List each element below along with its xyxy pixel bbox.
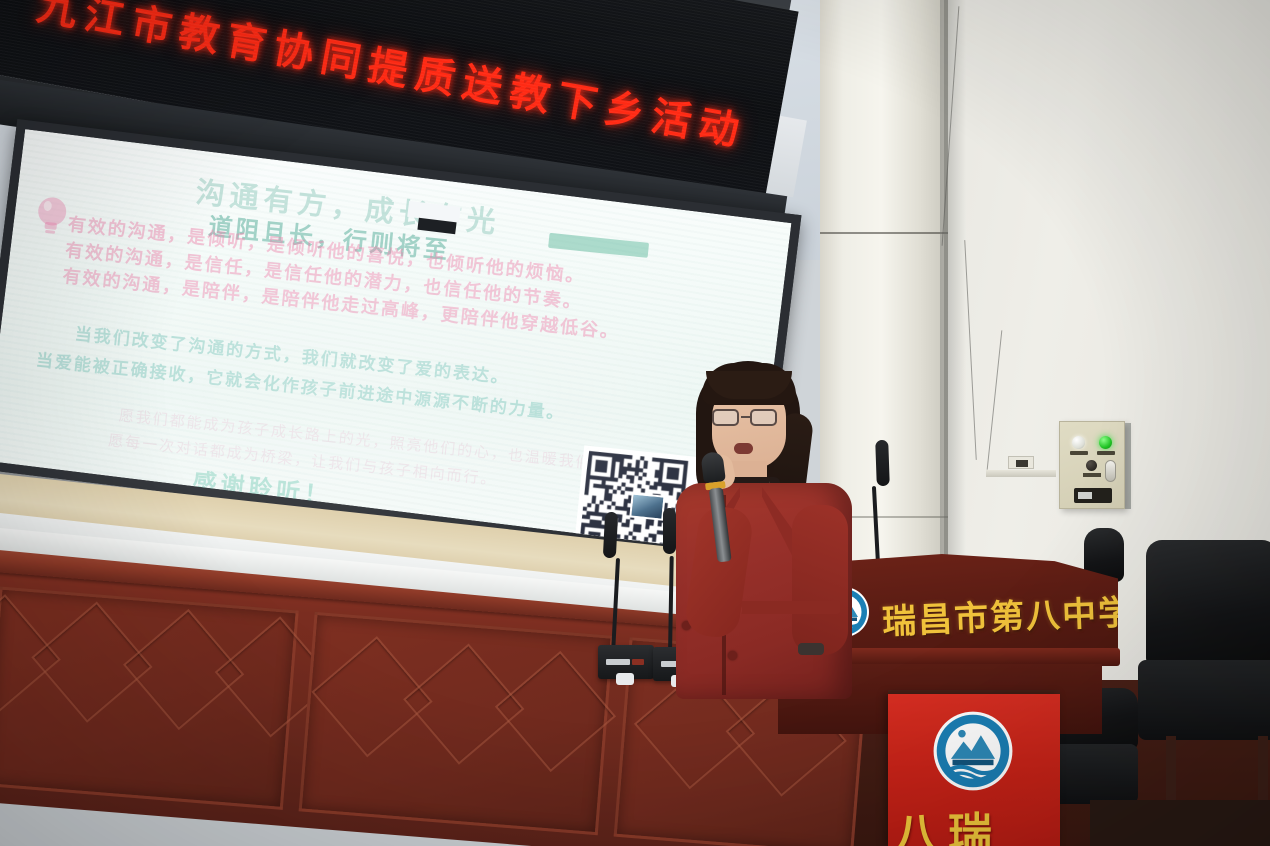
wall-ledge <box>986 470 1056 477</box>
socket-slot-icon <box>1016 460 1028 467</box>
stage-panel <box>0 587 299 810</box>
column-seam <box>820 232 948 234</box>
rotary-knob[interactable] <box>1086 460 1097 471</box>
glasses-bridge <box>741 416 750 418</box>
indicator-light-white-icon <box>1072 436 1085 449</box>
glasses-icon <box>750 409 777 426</box>
glasses-icon <box>712 409 739 426</box>
slide-accent-bar <box>548 233 649 258</box>
lightbulb-icon <box>32 194 70 242</box>
microphone-head-icon <box>603 512 618 559</box>
microphone-head-icon <box>700 451 725 483</box>
coat-button <box>728 651 737 660</box>
red-hanging-banner: 八瑞 <box>888 694 1060 846</box>
podium-school-name: 瑞昌市第八中学 <box>881 586 1115 644</box>
school-emblem-icon <box>932 710 1014 792</box>
floor <box>1090 800 1270 846</box>
right-arm <box>792 505 848 655</box>
power-socket[interactable] <box>1008 456 1034 469</box>
panel-vent-icon <box>1074 488 1112 503</box>
photo-scene: 九江市教育协同提质送教下乡活动 沟通有方，成长有光 道阻且长，行则将至 有效的沟… <box>0 0 1270 846</box>
stage-panel <box>299 612 614 835</box>
toggle-switch[interactable] <box>1105 460 1116 482</box>
presenter <box>640 355 870 700</box>
microphone-head-icon <box>875 440 890 486</box>
knob-label <box>1083 473 1101 477</box>
chair[interactable] <box>1136 540 1270 840</box>
indicator-label <box>1070 451 1088 455</box>
mouth <box>734 443 753 454</box>
indicator-light-green-icon <box>1099 436 1112 449</box>
indicator-label <box>1097 451 1115 455</box>
wristwatch <box>798 643 824 655</box>
red-banner-text: 八瑞 <box>894 798 1056 846</box>
wall-control-panel[interactable] <box>1059 421 1125 509</box>
